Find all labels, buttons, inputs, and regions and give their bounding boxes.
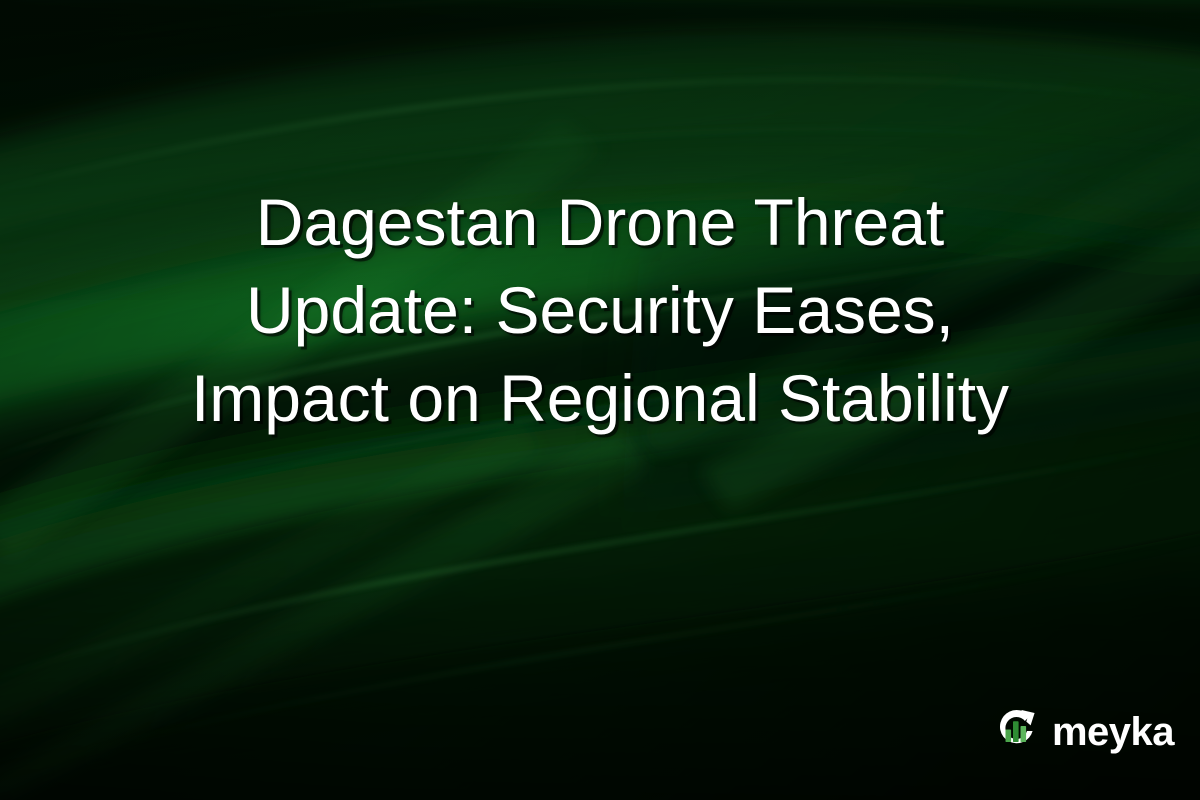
share-card: Dagestan Drone Threat Update: Security E… (0, 0, 1200, 800)
meyka-bar-chart-ring-icon (989, 704, 1043, 758)
title-line-1: Dagestan Drone Threat (256, 178, 945, 266)
page-title: Dagestan Drone Threat Update: Security E… (0, 0, 1200, 640)
brand-logo[interactable]: meyka (989, 704, 1174, 758)
title-line-2: Update: Security Eases, (246, 266, 954, 354)
title-line-3: Impact on Regional Stability (191, 354, 1009, 442)
brand-wordmark: meyka (1052, 712, 1174, 752)
